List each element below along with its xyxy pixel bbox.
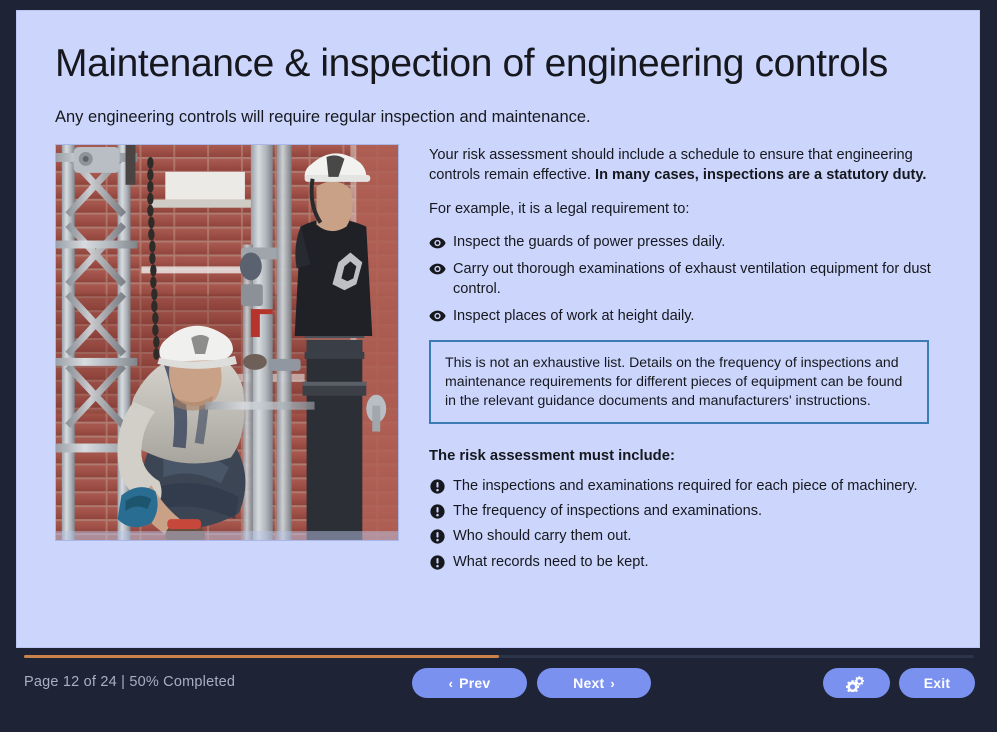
navigation-buttons: ‹ Prev Next › <box>412 668 651 698</box>
list-item-label: The frequency of inspections and examina… <box>453 503 762 519</box>
callout-text: This is not an exhaustive list. Details … <box>445 353 914 410</box>
course-player: Maintenance & inspection of engineering … <box>0 0 997 732</box>
content-columns: Your risk assessment should include a sc… <box>55 144 943 577</box>
prev-button[interactable]: ‹ Prev <box>412 668 527 698</box>
list-item-label: Who should carry them out. <box>453 528 631 544</box>
list-item: Inspect the guards of power presses dail… <box>429 232 943 252</box>
page-title: Maintenance & inspection of engineering … <box>55 43 943 86</box>
list-item-label: Carry out thorough examinations of exhau… <box>453 261 931 297</box>
example-lead: For example, it is a legal requirement t… <box>429 200 929 220</box>
exclamation-circle-icon <box>429 503 446 520</box>
exit-button-label: Exit <box>924 675 950 691</box>
page-status: Page 12 of 24 | 50% Completed <box>24 674 235 690</box>
list-item: The frequency of inspections and examina… <box>429 501 943 521</box>
exclamation-circle-icon <box>429 478 446 495</box>
progress-bar <box>24 655 974 658</box>
must-include-heading: The risk assessment must include: <box>429 448 943 464</box>
settings-button[interactable] <box>823 668 890 698</box>
next-button-label: Next <box>573 675 604 691</box>
next-button[interactable]: Next › <box>537 668 651 698</box>
exit-button[interactable]: Exit <box>899 668 975 698</box>
eye-icon <box>429 234 446 251</box>
list-item: Inspect places of work at height daily. <box>429 306 943 326</box>
text-column: Your risk assessment should include a sc… <box>400 144 943 577</box>
must-include-list: The inspections and examinations require… <box>429 476 943 573</box>
callout-box: This is not an exhaustive list. Details … <box>429 340 929 424</box>
eye-icon <box>429 308 446 325</box>
prev-button-label: Prev <box>459 675 490 691</box>
list-item: Who should carry them out. <box>429 526 943 546</box>
legal-requirements-list: Inspect the guards of power presses dail… <box>429 232 943 326</box>
exclamation-circle-icon <box>429 554 446 571</box>
eye-icon <box>429 261 446 278</box>
list-item-label: Inspect the guards of power presses dail… <box>453 234 725 250</box>
intro-paragraph-bold: In many cases, inspections are a statuto… <box>595 167 926 183</box>
cogs-icon <box>846 675 867 692</box>
list-item: Carry out thorough examinations of exhau… <box>429 259 943 300</box>
chevron-left-icon: ‹ <box>449 676 454 691</box>
chevron-right-icon: › <box>610 676 615 691</box>
progress-bar-fill <box>24 655 499 658</box>
slide-panel: Maintenance & inspection of engineering … <box>16 10 980 648</box>
list-item: The inspections and examinations require… <box>429 476 943 496</box>
list-item-label: Inspect places of work at height daily. <box>453 308 694 324</box>
intro-paragraph: Your risk assessment should include a sc… <box>429 146 929 186</box>
list-item-label: What records need to be kept. <box>453 554 649 570</box>
utility-buttons: Exit <box>823 668 975 698</box>
list-item-label: The inspections and examinations require… <box>453 478 918 494</box>
list-item: What records need to be kept. <box>429 552 943 572</box>
page-subtitle: Any engineering controls will require re… <box>55 107 943 128</box>
photo-column <box>55 144 400 541</box>
exclamation-circle-icon <box>429 528 446 545</box>
construction-scaffolding-photo <box>55 144 399 541</box>
